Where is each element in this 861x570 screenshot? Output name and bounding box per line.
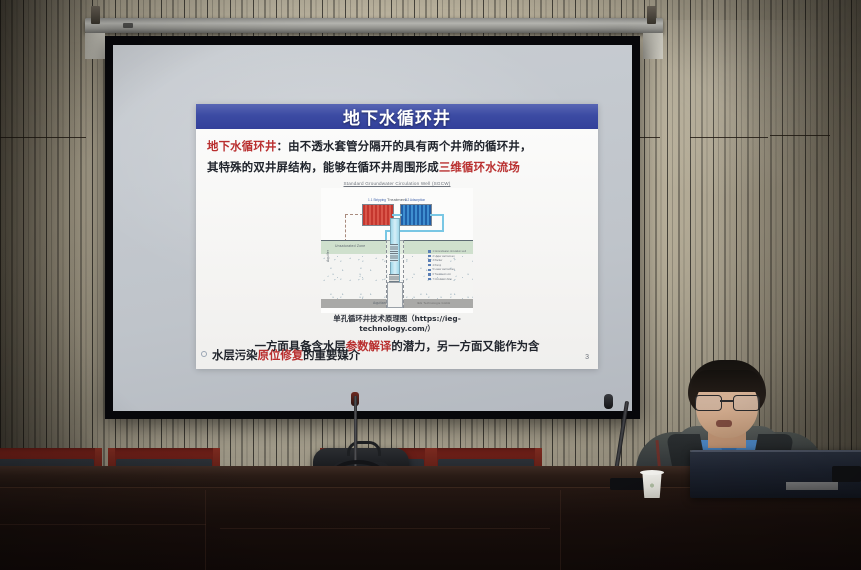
upper-well-screen [390,244,398,262]
slide-title-band: 地下水循环井 [196,104,598,129]
slide-body: 地下水循环井：由不透水套管分隔开的具有两个井筛的循环井， 其特殊的双井屏结构，能… [196,129,598,369]
legend-label: 4 Pump [433,264,442,267]
lecture-room-photo: 地下水循环井 地下水循环井：由不透水套管分隔开的具有两个井筛的循环井， 其特殊的… [0,0,861,570]
legend-item: 5 Lower well screen [428,268,472,271]
legend-swatch-icon [428,259,431,261]
glasses-bridge [720,400,733,402]
treatment-unit-left-label: 1.1 Stripping [362,198,392,202]
legend-item: 1 Groundwater circulation well [428,250,472,253]
legend-label: 3 Packer [433,259,443,262]
paragraph-highlight2: 三维循环水流场 [439,160,520,174]
legend-item: 4 Pump [428,264,472,267]
legend-label: 5 Lower well screen [433,268,455,271]
person-hair-front [692,370,762,392]
legend-swatch-icon [428,250,431,252]
well-bottom-sump [387,282,403,308]
legend-label: 7 Circulation flow [433,278,452,281]
treatment-unit-right-label: 1.2 Adsorption [400,198,430,202]
return-pipe-top [345,214,363,217]
return-pipe [345,215,364,242]
projector-screen-roller [85,18,663,33]
table-panel-line [220,528,550,529]
figure-credit: IEG Technologie GmbH [417,301,450,305]
legend-label: 6 Treatment unit [433,273,451,276]
eyeglasses-icon [695,395,759,409]
table-panel-divider [205,490,206,570]
diagram-legend: 1 Groundwater circulation well 2 Upper w… [428,250,472,282]
backpack-handle [347,441,381,456]
legend-swatch-icon [428,269,431,271]
glasses-lens-right [733,395,760,411]
desk-device-right [832,466,861,482]
slide-title: 地下水循环井 [343,104,451,129]
table-panel-divider [560,490,561,570]
figure-caption: 单孔循环井技术原理图（https://ieg- technology.com/） [196,314,598,334]
screen-side-right [643,33,663,59]
table-panel-line [0,524,206,525]
bottom-line1-b: 的潜力，另一方面又能作为含 [391,339,539,353]
legend-swatch-icon [428,278,431,280]
legend-item: 6 Treatment unit [428,273,472,276]
figure-english-caption: Standard Groundwater Circulation Well (S… [196,181,598,186]
legend-item: 7 Circulation flow [428,278,472,281]
figure-caption-line1: 单孔循环井技术原理图（https://ieg- [333,314,461,323]
legend-label: 2 Upper well screen [433,255,455,258]
legend-label: 1 Groundwater circulation well [433,250,467,253]
bullet-point-icon [201,351,207,357]
screen-bracket-right [647,6,656,24]
legend-swatch-icon [428,255,431,257]
groundwater-circulation-well-diagram: Treatment 1.1 Stripping 1.2 Adsorption [321,188,473,313]
paper-cup-pattern [647,481,657,490]
gooseneck-microphone-tip [604,394,613,409]
paragraph-lead: 地下水循环井 [207,139,277,153]
adsorption-unit-box [400,204,432,226]
paragraph-colon: ： [277,139,289,153]
slide-bottom-line2: 水层污染原位修复的重要媒介 [212,347,360,363]
conference-table-front [0,488,861,570]
roller-logo-icon [123,23,133,28]
pipe-segment [392,214,402,216]
bottom-line2-b: 的重要媒介 [303,348,360,362]
slide-paragraph: 地下水循环井：由不透水套管分隔开的具有两个井筛的循环井， 其特殊的双井屏结构，能… [196,129,598,178]
screen-side-left [85,33,105,59]
projection-screen: 地下水循环井 地下水循环井：由不透水套管分隔开的具有两个井筛的循环井， 其特殊的… [105,36,640,419]
legend-item: 2 Upper well screen [428,255,472,258]
unsaturated-zone-label: Unsaturated Zone [335,244,365,248]
legend-swatch-icon [428,273,431,275]
legend-swatch-icon [428,264,431,266]
aquifer-label: Aquifer [326,250,330,262]
paragraph-text2: 其特殊的双井屏结构，能够在循环井周围形成 [207,160,439,174]
screen-surface: 地下水循环井 地下水循环井：由不透水套管分隔开的具有两个井筛的循环井， 其特殊的… [113,45,632,411]
slide-page-number: 3 [585,354,589,361]
paragraph-text1: 由不透水套管分隔开的具有两个井筛的循环井， [288,139,531,153]
legend-item: 3 Packer [428,259,472,262]
desk-paper [786,482,838,490]
bottom-line2-highlight: 原位修复 [258,348,304,362]
bottom-line2-a: 水层污染 [212,348,258,362]
presentation-slide: 地下水循环井 地下水循环井：由不透水套管分隔开的具有两个井筛的循环井， 其特殊的… [196,104,598,369]
glasses-lens-left [695,395,722,411]
paper-cup-rim [640,470,664,475]
treatment-label: Treatment [321,197,473,202]
person-mouth [716,420,732,427]
screen-bracket-left [91,6,100,24]
laptop-lid-edge [690,450,861,452]
figure-caption-line2: technology.com/） [359,324,435,333]
